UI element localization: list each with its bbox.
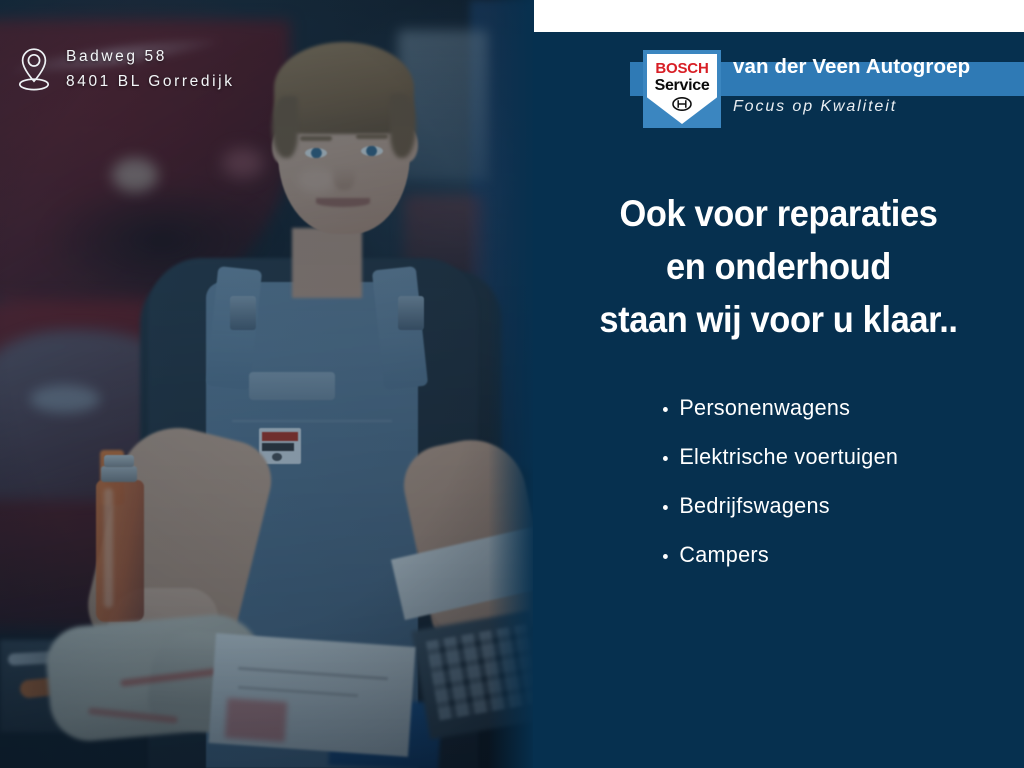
- company-tagline: Focus op Kwaliteit: [733, 92, 1023, 122]
- mechanic-workshop-photo: [0, 0, 534, 768]
- brand-text-block: van der Veen Autogroep Focus op Kwalitei…: [733, 50, 1023, 122]
- headline-line-2: en onderhoud: [550, 240, 1007, 293]
- promo-banner: Badweg 58 8401 BL Gorredijk BOSCH Servic…: [0, 0, 1024, 768]
- list-item: Personenwagens: [663, 394, 1009, 422]
- brand-header: BOSCH Service van der Veen Autogroep Foc…: [533, 50, 1024, 128]
- logo-service-text: Service: [655, 77, 710, 95]
- logo-shield-shape: BOSCH Service: [647, 54, 717, 124]
- bosch-service-logo[interactable]: BOSCH Service: [643, 50, 721, 128]
- services-list: Personenwagens Elektrische voertuigen Be…: [663, 394, 1023, 590]
- list-item: Campers: [663, 541, 1009, 569]
- logo-bosch-text: BOSCH: [655, 60, 708, 77]
- headline-line-1: Ook voor reparaties: [550, 187, 1007, 240]
- info-panel: BOSCH Service van der Veen Autogroep Foc…: [533, 32, 1024, 768]
- company-name: van der Veen Autogroep: [733, 50, 1023, 84]
- bosch-armature-icon: [672, 97, 692, 116]
- photo-vignette: [0, 0, 534, 768]
- address-street: Badweg 58: [66, 44, 235, 69]
- headline-line-3: staan wij voor u klaar..: [550, 293, 1007, 346]
- address-text: Badweg 58 8401 BL Gorredijk: [66, 44, 235, 94]
- address-block: Badweg 58 8401 BL Gorredijk: [16, 44, 235, 94]
- list-item: Bedrijfswagens: [663, 492, 1009, 520]
- map-pin-icon: [16, 46, 52, 92]
- page-title: Ook voor reparaties en onderhoud staan w…: [550, 187, 1007, 346]
- list-item: Elektrische voertuigen: [663, 443, 1009, 471]
- address-postal-city: 8401 BL Gorredijk: [66, 69, 235, 94]
- photo-edge-fade: [488, 0, 534, 768]
